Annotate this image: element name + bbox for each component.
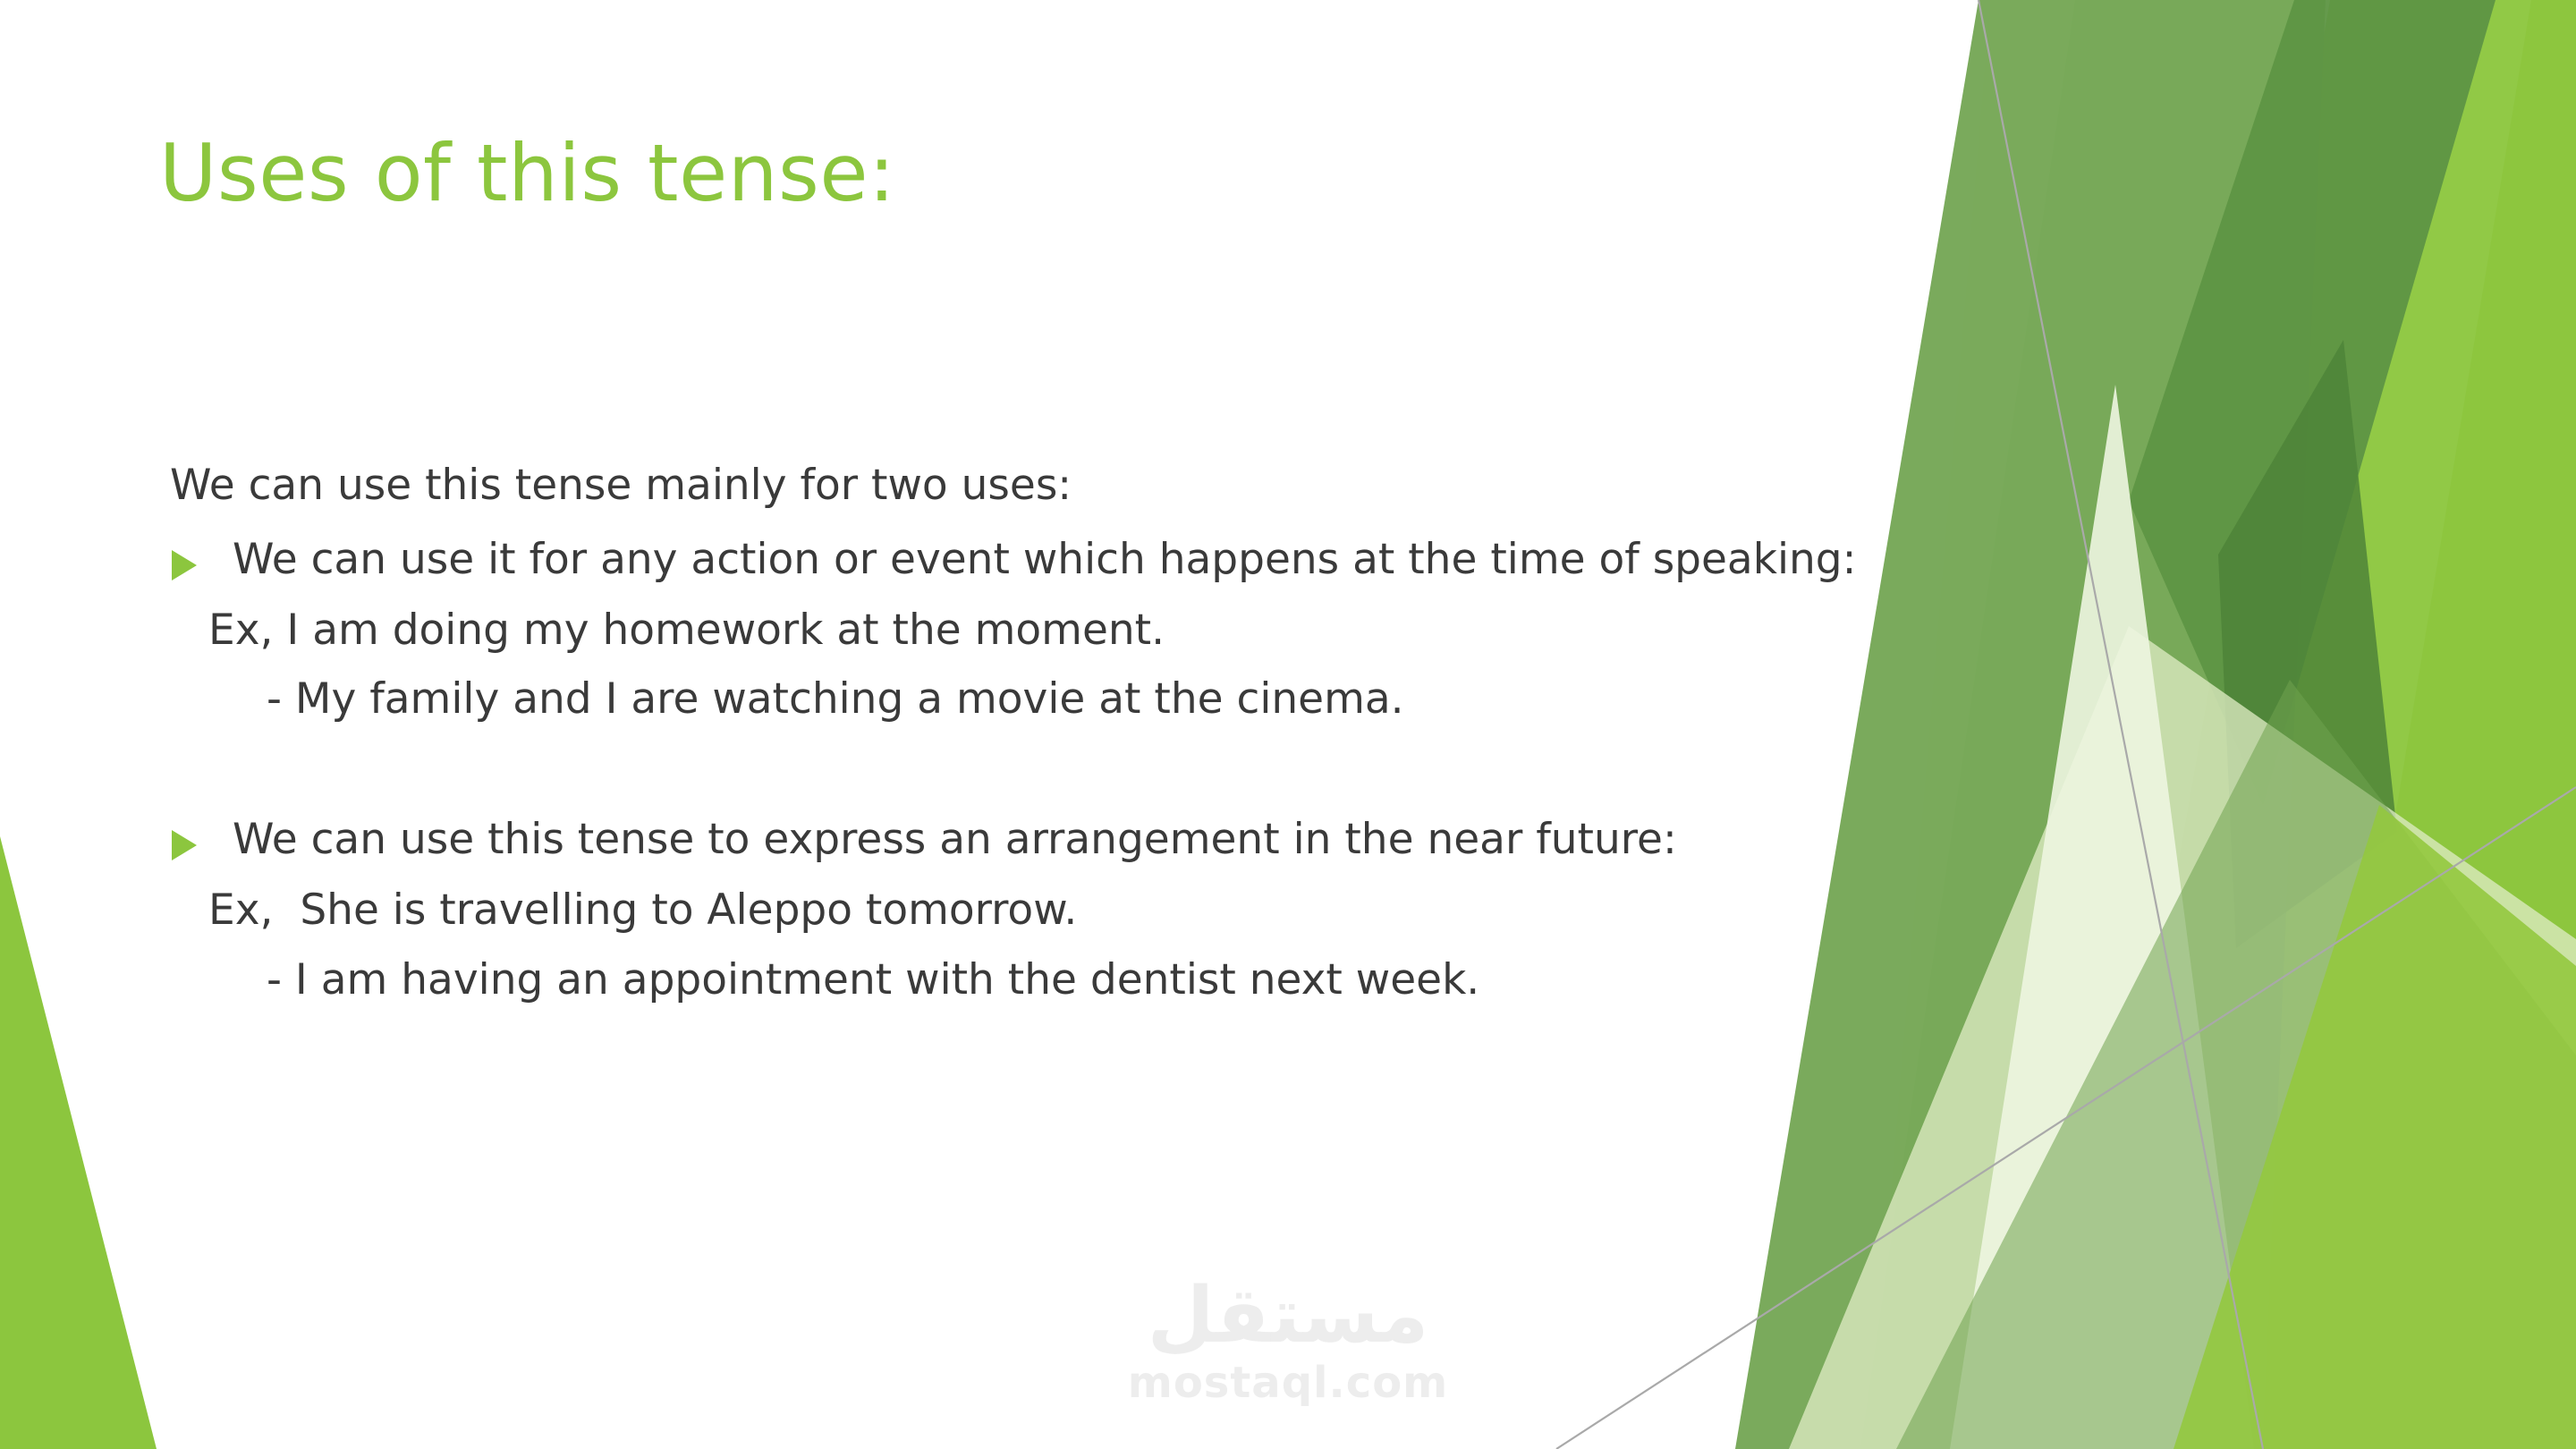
body-lead-line: We can use this tense mainly for two use… <box>170 458 1993 513</box>
decor-shape-dark-green-wedge <box>2129 0 2495 805</box>
bullet-item-2-sub-example: - I am having an appointment with the de… <box>267 953 1993 1007</box>
decor-hairline-steep <box>1979 0 2263 1449</box>
bullet-item-2-text: We can use this tense to express an arra… <box>233 812 1993 867</box>
decor-shape-bottom-left-wedge <box>0 836 157 1449</box>
bullet-item-1-sub-example: - My family and I are watching a movie a… <box>267 672 1993 726</box>
bullet-item-1-text: We can use it for any action or event wh… <box>233 532 1993 587</box>
bullet-item-2: We can use this tense to express an arra… <box>159 812 1993 867</box>
triangle-bullet-icon <box>172 550 197 580</box>
bullet-item-1: We can use it for any action or event wh… <box>159 532 1993 587</box>
bullet-item-1-example: Ex, I am doing my homework at the moment… <box>208 603 1993 657</box>
slide-body: We can use this tense mainly for two use… <box>159 458 1993 1007</box>
decor-shape-lower-left-spear <box>1896 680 2576 1449</box>
triangle-bullet-icon <box>172 830 197 860</box>
decor-shape-bright-right-column <box>2290 0 2576 1449</box>
mostaql-watermark: مستقل mostaql.com <box>1109 1277 1467 1407</box>
watermark-arabic-logo: مستقل <box>1109 1277 1467 1354</box>
decor-shape-bright-right-mass <box>2075 0 2576 1449</box>
watermark-domain-text: mostaql.com <box>1109 1360 1467 1407</box>
body-spacer <box>159 726 1993 812</box>
bullet-item-2-example: Ex, She is travelling to Aleppo tomorrow… <box>208 883 1993 937</box>
presentation-slide: Uses of this tense: We can use this tens… <box>0 0 2576 1449</box>
decor-shape-pale-sliver <box>1950 385 2254 1449</box>
decor-shape-bottom-right-foreground <box>2173 805 2576 1449</box>
decor-shape-deep-green-overlap <box>2218 340 2397 948</box>
slide-title: Uses of this tense: <box>159 132 895 215</box>
